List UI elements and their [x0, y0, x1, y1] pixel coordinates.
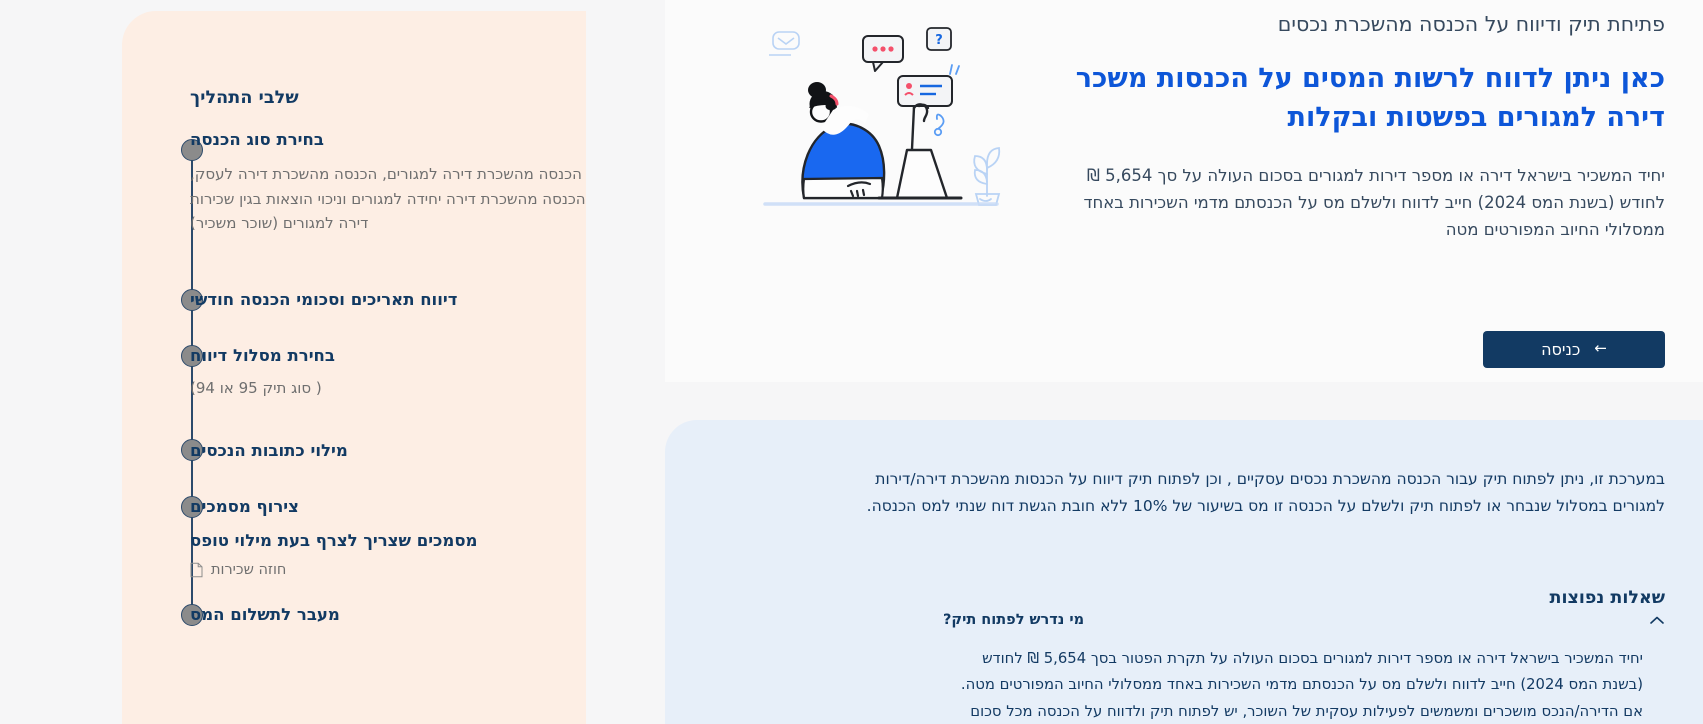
- process-step-3: בחירת מסלול דיווח ( סוג תיק 95 או 94): [190, 345, 586, 400]
- step-2-label: דיווח תאריכים וסכומי הכנסה חודשי: [190, 289, 586, 310]
- chevron-up-icon[interactable]: [1649, 615, 1665, 625]
- faq-section-title: שאלות נפוצות: [1550, 588, 1666, 608]
- svg-text:?: ?: [935, 33, 943, 48]
- step-1-description: הכנסה מהשכרת דירה למגורים, הכנסה מהשכרת …: [190, 162, 586, 235]
- hero-section: ?: [665, 0, 1703, 382]
- step-5-label: צירוף מסמכים: [190, 496, 586, 517]
- document-icon: [190, 562, 203, 578]
- step-6-label: מעבר לתשלום המס: [190, 604, 586, 625]
- page-title: כאן ניתן לדווח לרשות המסים על הכנסות משכ…: [1057, 59, 1665, 137]
- faq-question[interactable]: מי נדרש לפתוח תיק?: [943, 612, 1084, 628]
- steps-panel-title: שלבי התהליך: [190, 88, 586, 108]
- process-steps-panel: שלבי התהליך בחירת סוג הכנסה הכנסה מהשכרת…: [122, 11, 586, 724]
- hero-kicker: פתיחת תיק ודיווח על הכנסה מהשכרת נכסים: [1057, 10, 1665, 39]
- faq-item[interactable]: מי נדרש לפתוח תיק? יחיד המשכיר בישראל די…: [943, 612, 1665, 724]
- hero-description: יחיד המשכיר בישראל דירה או מספר דירות למ…: [1057, 162, 1665, 243]
- step-5-document-item: חוזה שכירות: [190, 562, 586, 578]
- process-step-1: בחירת סוג הכנסה הכנסה מהשכרת דירה למגורי…: [190, 129, 586, 235]
- process-step-6: מעבר לתשלום המס: [190, 604, 586, 625]
- arrow-left-icon: ←: [1594, 341, 1607, 356]
- step-5-documents-title: מסמכים שצריך לצרף בעת מילוי טופס: [190, 531, 586, 550]
- step-3-subtext: ( סוג תיק 95 או 94): [190, 377, 586, 400]
- step-3-label: בחירת מסלול דיווח: [190, 345, 586, 366]
- step-4-label: מילוי כתובות הנכסים: [190, 440, 586, 461]
- process-step-5: צירוף מסמכים מסמכים שצריך לצרף בעת מילוי…: [190, 496, 586, 578]
- enter-button[interactable]: כניסה ←: [1483, 331, 1665, 368]
- step-5-document-name: חוזה שכירות: [211, 562, 286, 578]
- faq-answer: יחיד המשכיר בישראל דירה או מספר דירות למ…: [953, 646, 1643, 724]
- page-root: שלבי התהליך בחירת סוג הכנסה הכנסה מהשכרת…: [0, 0, 1703, 724]
- hero-text-block: פתיחת תיק ודיווח על הכנסה מהשכרת נכסים כ…: [1057, 10, 1665, 260]
- system-info-paragraph: במערכת זו, ניתן לפתוח תיק עבור הכנסה מהש…: [857, 466, 1665, 520]
- person-at-laptop-illustration: ?: [751, 8, 1041, 220]
- step-1-label: בחירת סוג הכנסה: [190, 129, 586, 150]
- process-step-2: דיווח תאריכים וסכומי הכנסה חודשי: [190, 289, 586, 310]
- info-faq-panel: במערכת זו, ניתן לפתוח תיק עבור הכנסה מהש…: [665, 420, 1703, 724]
- process-step-4: מילוי כתובות הנכסים: [190, 440, 586, 461]
- enter-button-label: כניסה: [1541, 340, 1580, 359]
